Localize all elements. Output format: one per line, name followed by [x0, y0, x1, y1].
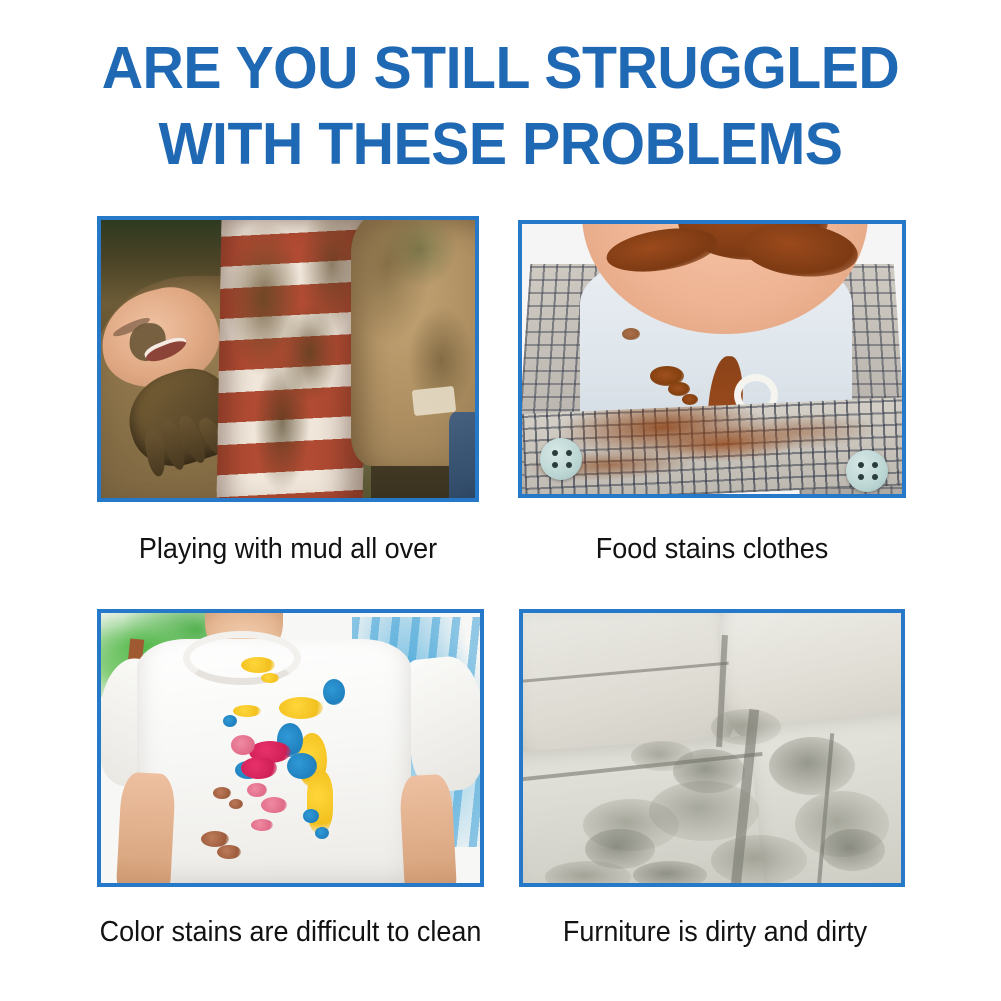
photo-dirty-sofa: [523, 613, 901, 883]
caption-paint: Color stains are difficult to clean: [98, 915, 484, 949]
photo-frame-sofa: [519, 609, 905, 887]
page-title-line-2: WITH THESE PROBLEMS: [15, 106, 986, 182]
photo-muddy-children: [101, 220, 475, 498]
photo-food-stains: [522, 224, 902, 494]
caption-food: Food stains clothes: [532, 532, 893, 566]
photo-frame-food: [518, 220, 906, 498]
photo-frame-mud: [97, 216, 479, 502]
caption-mud: Playing with mud all over: [55, 532, 522, 566]
page-title-line-1: ARE YOU STILL STRUGGLED: [15, 30, 986, 106]
caption-sofa: Furniture is dirty and dirty: [542, 915, 888, 949]
page-title: ARE YOU STILL STRUGGLED WITH THESE PROBL…: [15, 30, 986, 182]
photo-paint-stained-shirt: [101, 613, 480, 883]
photo-frame-paint: [97, 609, 484, 887]
